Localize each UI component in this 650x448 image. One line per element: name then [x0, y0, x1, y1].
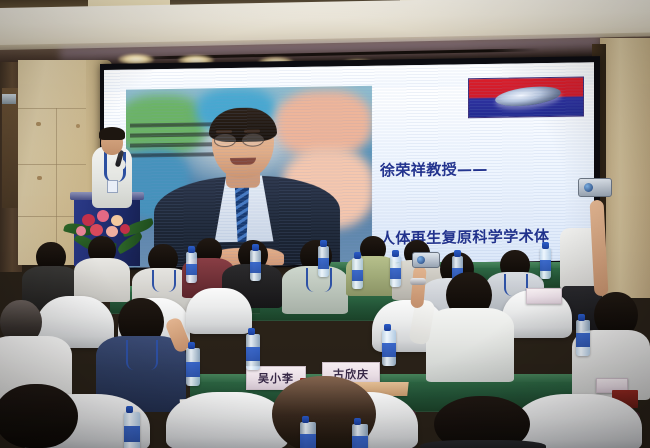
- bottled-water: [576, 320, 590, 356]
- conference-chair[interactable]: [512, 394, 642, 448]
- led-projection-screen[interactable]: 徐荣祥教授—— 人体再生复原科学学术体 系的创立者； 烧伤再生医疗技术和湿润 烧…: [104, 62, 594, 268]
- attendee-lanyard: [152, 270, 176, 292]
- attendee-head: [0, 384, 78, 448]
- phone-camera-lens-icon: [417, 256, 425, 264]
- attendee-lanyard: [126, 340, 158, 370]
- bottled-water: [382, 330, 396, 366]
- bottled-water: [300, 422, 316, 448]
- slide-portrait-mouth: [230, 158, 256, 165]
- speaker-hair: [99, 127, 125, 140]
- smartphone-icon[interactable]: [412, 252, 440, 268]
- conference-chair[interactable]: [166, 392, 288, 448]
- exit-sign-icon: [2, 94, 16, 104]
- bottled-water: [390, 256, 401, 287]
- side-door: [2, 88, 19, 208]
- speaker-badge: [107, 180, 118, 193]
- right-wall: [600, 38, 650, 298]
- phone-camera-lens-icon: [584, 183, 593, 192]
- photographer-torso: [426, 308, 514, 382]
- bottled-water: [250, 250, 261, 281]
- bottled-water: [352, 424, 368, 448]
- bottled-water: [246, 334, 260, 370]
- smartphone-icon[interactable]: [578, 178, 612, 197]
- conference-hall-photo: 徐荣祥教授—— 人体再生复原科学学术体 系的创立者； 烧伤再生医疗技术和湿润 烧…: [0, 0, 650, 448]
- name-placard-label: 吴小李: [258, 370, 294, 386]
- bottled-water: [186, 252, 197, 283]
- wristwatch-icon: [410, 278, 426, 285]
- bottled-water: [124, 412, 140, 448]
- name-placard: [526, 288, 562, 304]
- bottled-water: [352, 258, 363, 289]
- slide-heading: 徐荣祥教授——: [380, 156, 592, 182]
- slide-logo-emblem-icon: [494, 83, 562, 109]
- conference-chair[interactable]: [186, 288, 252, 334]
- bottled-water: [318, 246, 329, 277]
- attendee-torso: [420, 440, 546, 448]
- bottled-water: [186, 348, 200, 386]
- bottled-water: [540, 248, 551, 279]
